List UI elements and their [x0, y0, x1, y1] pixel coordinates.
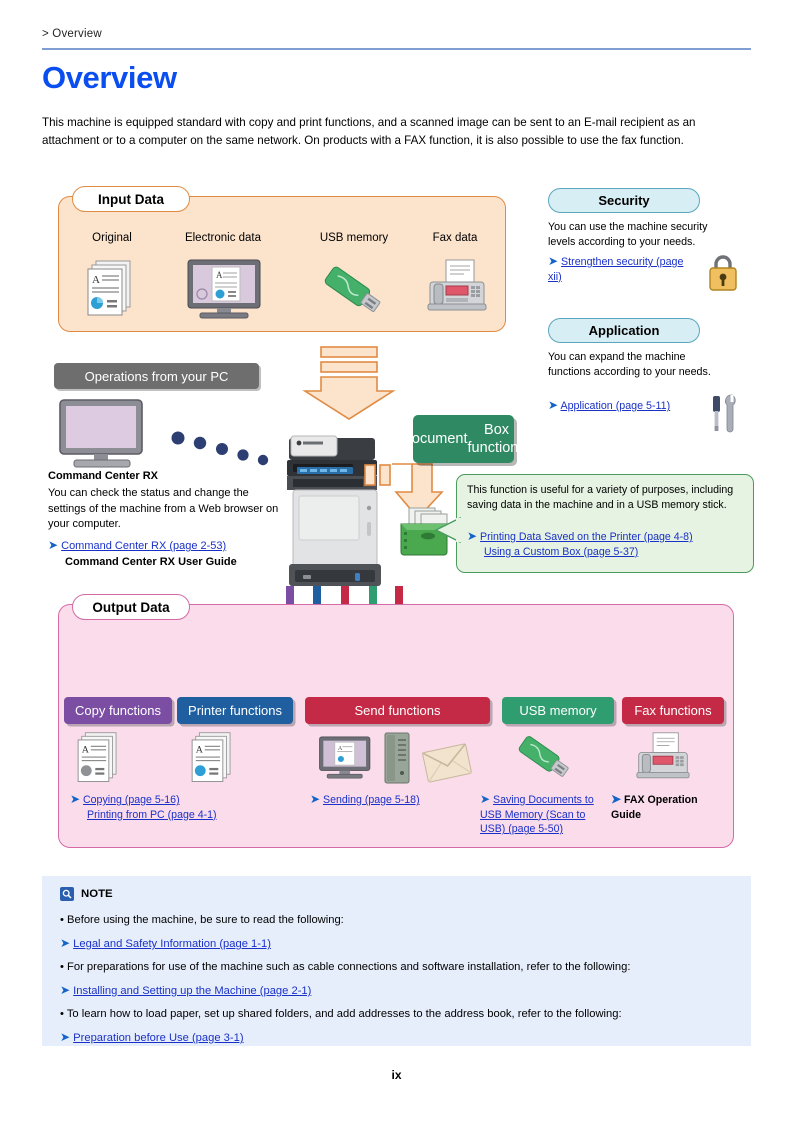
documents-icon: A [84, 258, 136, 320]
note-line-2: For preparations for use of the machine … [60, 960, 736, 975]
printing-from-pc-link[interactable]: Printing from PC (page 4-1) [87, 809, 217, 821]
arrow-right-icon: ➤ [611, 792, 621, 806]
input-item-label: Fax data [412, 232, 498, 244]
fax-machine-icon [424, 258, 490, 318]
copy-link-group: ➤ Copying (page 5-16) Printing from PC (… [70, 792, 270, 822]
fax-link-group: ➤ FAX Operation Guide [611, 792, 721, 822]
pc-monitor-icon [58, 398, 148, 470]
input-data-label: Input Data [72, 186, 190, 212]
svg-text:A: A [196, 745, 204, 756]
overview-page: > Overview Overview This machine is equi… [0, 0, 793, 1122]
document-box-tab-line1: Document [401, 430, 467, 448]
document-box-link-1[interactable]: Printing Data Saved on the Printer (page… [480, 531, 693, 543]
document-box-links: ➤ Printing Data Saved on the Printer (pa… [467, 529, 749, 559]
fax-output-icon [633, 731, 693, 785]
printer-functions-button[interactable]: Printer functions [177, 697, 293, 724]
input-item-label: Original [66, 232, 158, 244]
input-item-usb-memory: USB memory [300, 232, 408, 250]
arrow-right-icon: ➤ [480, 792, 490, 806]
saving-documents-usb-link[interactable]: Saving Documents to USB Memory (Scan to … [480, 794, 594, 835]
input-flow-arrow [295, 345, 405, 425]
input-item-original: Original [66, 232, 158, 250]
note-link-row-1: ➤ Legal and Safety Information (page 1-1… [60, 936, 732, 952]
send-link-group: ➤ Sending (page 5-18) [310, 792, 480, 808]
arrow-right-icon: ➤ [310, 792, 320, 806]
arrow-right-icon: ➤ [70, 792, 80, 806]
svg-text:A: A [92, 274, 100, 286]
note-heading-label: NOTE [81, 888, 113, 900]
arrow-right-icon: ➤ [60, 983, 70, 997]
breadcrumb: > Overview [42, 28, 102, 40]
intro-paragraph: This machine is equipped standard with c… [42, 114, 754, 149]
note-heading: NOTE [60, 887, 113, 901]
command-center-links: ➤ Command Center RX (page 2-53) Command … [48, 538, 308, 570]
printer-output-icon: A [188, 730, 236, 786]
arrow-right-icon: ➤ [548, 398, 558, 412]
page-title: Overview [42, 60, 177, 96]
operations-from-pc-bar: Operations from your PC [54, 363, 259, 389]
copying-link[interactable]: Copying (page 5-16) [83, 794, 180, 806]
fax-operation-guide-label: FAX Operation Guide [611, 794, 698, 821]
command-center-text: You can check the status and change the … [48, 486, 284, 533]
padlock-icon [706, 252, 740, 292]
security-link[interactable]: Strengthen security (page xii) [548, 256, 683, 283]
tools-icon [708, 392, 744, 434]
arrow-right-icon: ➤ [48, 538, 58, 552]
send-functions-button[interactable]: Send functions [305, 697, 490, 724]
header-rule [42, 48, 751, 50]
document-box-tab-line2: Box functions [468, 421, 526, 457]
note-line-3: To learn how to load paper, set up share… [60, 1007, 736, 1022]
arrow-right-icon: ➤ [467, 529, 477, 543]
sending-link[interactable]: Sending (page 5-18) [323, 794, 420, 806]
command-center-guide: Command Center RX User Guide [65, 555, 308, 571]
document-box-functions-tab: Document Box functions [413, 415, 514, 463]
installing-setting-up-link[interactable]: Installing and Setting up the Machine (p… [73, 985, 311, 997]
security-link-row: ➤ Strengthen security (page xii) [548, 254, 694, 284]
input-item-label: USB memory [300, 232, 408, 244]
command-center-link[interactable]: Command Center RX (page 2-53) [61, 540, 226, 552]
input-item-label: Electronic data [165, 232, 281, 244]
note-line-1: Before using the machine, be sure to rea… [60, 913, 732, 928]
arrow-right-icon: ➤ [60, 936, 70, 950]
input-item-fax-data: Fax data [412, 232, 498, 250]
monitor-icon: A [186, 258, 262, 320]
application-text: You can expand the machine functions acc… [548, 350, 720, 379]
copy-output-icon: A [74, 730, 122, 786]
svg-text:A: A [82, 745, 90, 756]
input-item-electronic-data: Electronic data [165, 232, 281, 250]
security-text: You can use the machine security levels … [548, 220, 726, 249]
application-link-row: ➤ Application (page 5-11) [548, 398, 688, 414]
envelope-icon [421, 742, 473, 784]
usb-drive-output-icon [512, 732, 578, 784]
usb-link-group: ➤ Saving Documents to USB Memory (Scan t… [480, 792, 602, 837]
fax-functions-button[interactable]: Fax functions [622, 697, 724, 724]
document-box-link-2[interactable]: Using a Custom Box (page 5-37) [484, 546, 638, 558]
preparation-before-use-link[interactable]: Preparation before Use (page 3-1) [73, 1032, 243, 1044]
server-tower-icon [383, 731, 411, 785]
connection-dots [170, 430, 278, 470]
svg-text:A: A [216, 270, 223, 280]
page-number: ix [0, 1068, 793, 1082]
copy-functions-button[interactable]: Copy functions [64, 697, 172, 724]
security-label: Security [548, 188, 700, 213]
application-link[interactable]: Application (page 5-11) [560, 400, 670, 412]
magnifier-note-icon [60, 887, 74, 901]
note-box: NOTE Before using the machine, be sure t… [42, 876, 751, 1046]
note-link-row-3: ➤ Preparation before Use (page 3-1) [60, 1030, 732, 1046]
arrow-right-icon: ➤ [548, 254, 558, 268]
note-link-row-2: ➤ Installing and Setting up the Machine … [60, 983, 732, 999]
document-box-text: This function is useful for a variety of… [467, 483, 745, 512]
command-center-heading: Command Center RX [48, 470, 158, 482]
send-monitor-icon: A [318, 733, 376, 785]
legal-safety-link[interactable]: Legal and Safety Information (page 1-1) [73, 938, 271, 950]
arrow-right-icon: ➤ [60, 1030, 70, 1044]
document-box-balloon: This function is useful for a variety of… [456, 474, 754, 573]
application-label: Application [548, 318, 700, 343]
usb-memory-button[interactable]: USB memory [502, 697, 614, 724]
usb-drive-icon [318, 262, 390, 320]
balloon-tail [434, 516, 458, 542]
svg-text:A: A [338, 746, 343, 752]
multifunction-printer-illustration [283, 434, 399, 594]
output-data-label: Output Data [72, 594, 190, 620]
